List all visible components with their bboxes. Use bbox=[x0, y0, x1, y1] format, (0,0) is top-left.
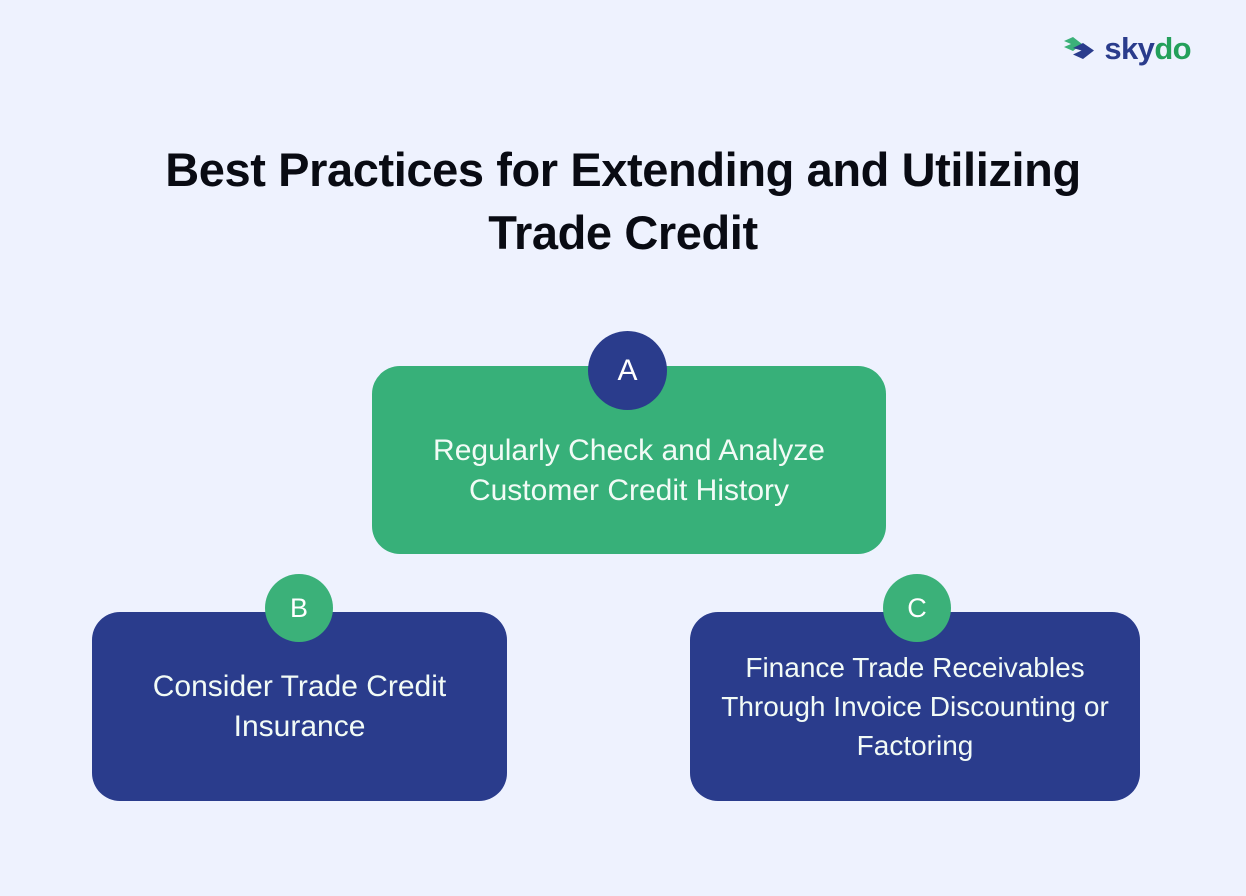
practice-card-a-label: Regularly Check and Analyze Customer Cre… bbox=[372, 409, 886, 511]
practice-badge-b: B bbox=[265, 574, 333, 642]
practice-card-c-label: Finance Trade Receivables Through Invoic… bbox=[690, 648, 1140, 766]
practice-card-b-label: Consider Trade Credit Insurance bbox=[92, 667, 507, 747]
brand-wordmark-sky: sky bbox=[1104, 31, 1154, 66]
brand-logo: skydo bbox=[1063, 33, 1191, 64]
page-title: Best Practices for Extending and Utilizi… bbox=[0, 139, 1246, 263]
skydo-chevron-logo-icon bbox=[1063, 34, 1097, 64]
practice-badge-a: A bbox=[588, 331, 667, 410]
brand-wordmark-do: do bbox=[1154, 31, 1191, 66]
brand-wordmark: skydo bbox=[1104, 33, 1191, 64]
practice-badge-c: C bbox=[883, 574, 951, 642]
